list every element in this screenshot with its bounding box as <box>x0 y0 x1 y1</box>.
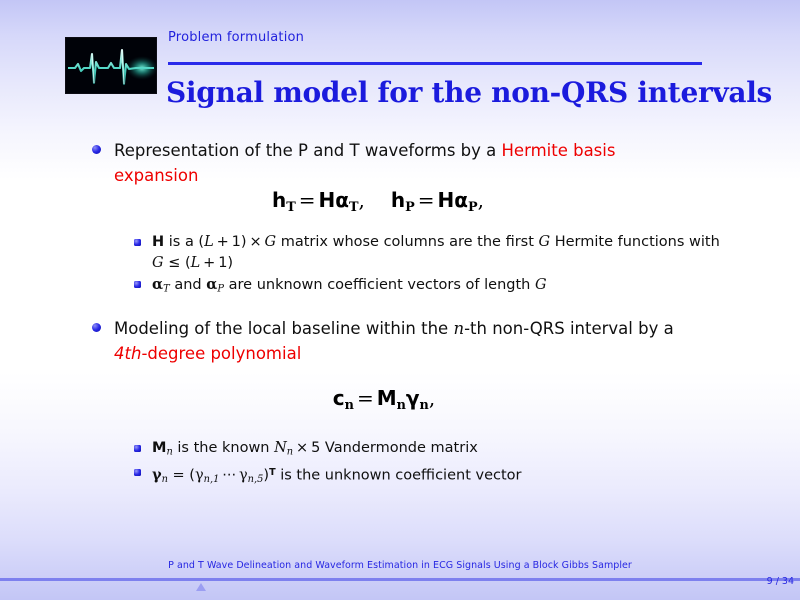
slide-header: Problem formulation Signal model for the… <box>0 0 800 118</box>
equation-hermite-expansion: hT=HαT,hP=HαP, <box>0 188 778 215</box>
footer-divider <box>0 578 800 581</box>
sub-bullet-group-1: H is a (L + 1) × G matrix whose columns … <box>130 232 720 299</box>
sub-bullet-marker-icon <box>134 469 141 476</box>
eq1-equals-1: = <box>296 188 319 212</box>
eq1-equals-2: = <box>415 188 438 212</box>
bullet-marker-icon <box>92 323 101 332</box>
bullet2-text-a: Modeling of the local baseline within th… <box>114 319 453 338</box>
eq1-rhs2-matrix: H <box>438 188 455 212</box>
sub-bullet-marker-icon <box>134 281 141 288</box>
bullet-list-level1-b: Modeling of the local baseline within th… <box>88 316 698 366</box>
sub-bullet-group-2: Mn is the known Nn × 5 Vandermonde matri… <box>130 438 720 490</box>
bullet2-text-b: -th non-QRS interval by a <box>464 319 674 338</box>
footer-paper-title: P and T Wave Delineation and Waveform Es… <box>0 560 800 571</box>
page-number: 9 / 34 <box>767 576 794 587</box>
eq1-comma-2: , <box>478 188 484 212</box>
nav-up-triangle-icon[interactable] <box>196 583 206 591</box>
bullet2-text-highlight: 4th-degree polynomial <box>114 344 301 363</box>
eq1-lhs1-sub: T <box>286 200 296 215</box>
eq2-lhs: c <box>333 386 345 410</box>
bullet-group-1: Representation of the P and T waveforms … <box>88 138 688 192</box>
bullet-list-level2-b: Mn is the known Nn × 5 Vandermonde matri… <box>130 438 720 490</box>
bullet-representation-waveforms: Representation of the P and T waveforms … <box>88 138 688 188</box>
sub-bullet-H-matrix: H is a (L + 1) × G matrix whose columns … <box>130 232 720 274</box>
bullet-baseline-modeling: Modeling of the local baseline within th… <box>88 316 698 366</box>
eq1-rhs2-sub: P <box>468 200 478 215</box>
bullet2-text-italic: n <box>453 319 464 338</box>
sub-bullet-marker-icon <box>134 445 141 452</box>
eq2-equals: = <box>354 386 377 410</box>
eq1-rhs1-vector: α <box>335 188 349 212</box>
eq1-rhs2-vector: α <box>454 188 468 212</box>
slide-footer: P and T Wave Delineation and Waveform Es… <box>0 554 800 600</box>
eq1-lhs2: h <box>391 188 405 212</box>
bullet-marker-icon <box>92 145 101 154</box>
slide: Problem formulation Signal model for the… <box>0 0 800 600</box>
page-title: Signal model for the non-QRS intervals <box>166 76 786 109</box>
eq2-lhs-sub: n <box>345 398 354 413</box>
ecg-waveform-logo-icon <box>65 37 157 94</box>
bullet-list-level1-a: Representation of the P and T waveforms … <box>88 138 688 188</box>
eq2-rhs-vector-sub: n <box>420 398 429 413</box>
eq2-rhs-matrix-sub: n <box>397 398 406 413</box>
eq1-lhs2-sub: P <box>405 200 415 215</box>
eq1-rhs1-sub: T <box>349 200 359 215</box>
equation-baseline-polynomial: cn=Mnγn, <box>0 386 784 413</box>
bullet-group-2: Modeling of the local baseline within th… <box>88 316 698 370</box>
eq2-comma: , <box>429 386 435 410</box>
eq1-rhs1-matrix: H <box>319 188 336 212</box>
eq1-lhs1: h <box>272 188 286 212</box>
bullet-list-level2-a: H is a (L + 1) × G matrix whose columns … <box>130 232 720 299</box>
eq2-rhs-matrix: M <box>377 386 397 410</box>
eq2-rhs-vector: γ <box>406 386 420 410</box>
breadcrumb: Problem formulation <box>168 30 304 45</box>
ecg-trace-svg <box>66 38 156 93</box>
sub-bullet-alpha-vectors: αT and αP are unknown coefficient vector… <box>130 274 720 299</box>
sub-bullet-gamma-vector: γn = (γn,1 ··· γn,5)T is the unknown coe… <box>130 462 720 490</box>
bullet-text-plain: Representation of the P and T waveforms … <box>114 141 502 160</box>
eq1-comma-1: , <box>359 188 365 212</box>
sub-bullet-M-vandermonde: Mn is the known Nn × 5 Vandermonde matri… <box>130 438 720 462</box>
header-divider <box>168 62 702 65</box>
sub-bullet-marker-icon <box>134 239 141 246</box>
